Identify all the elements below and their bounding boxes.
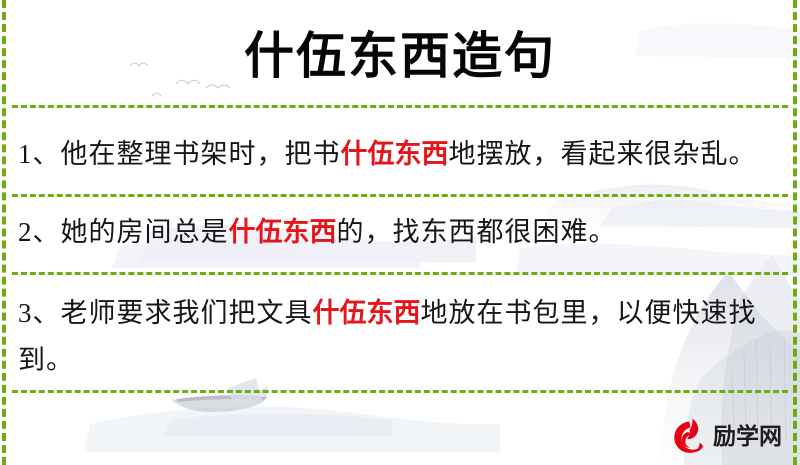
sentence-1-number: 1、 — [18, 139, 61, 169]
logo-text: 励学网 — [713, 426, 782, 449]
page-title: 什伍东西造句 — [0, 24, 800, 88]
example-sentence-1: 1、他在整理书架时，把书什伍东西地摆放，看起来很杂乱。 — [18, 131, 780, 178]
sentence-3-keyword: 什伍东西 — [313, 298, 421, 329]
sentence-2-after: 的，找东西都很困难。 — [337, 217, 617, 247]
example-sentence-3: 3、老师要求我们把文具什伍东西地放在书包里，以便快速找到。 — [18, 290, 780, 384]
example-sentence-2: 2、她的房间总是什伍东西的，找东西都很困难。 — [18, 209, 780, 256]
sentence-1-before: 他在整理书架时，把书 — [61, 139, 341, 169]
sentence-2-before: 她的房间总是 — [61, 217, 229, 247]
sentence-2-number: 2、 — [18, 217, 61, 247]
separator-title — [12, 105, 788, 108]
flame-swirl-icon — [668, 416, 710, 458]
site-logo[interactable]: 励学网 — [668, 414, 792, 460]
sentence-1-keyword: 什伍东西 — [341, 139, 449, 170]
separator-line-2 — [12, 272, 788, 275]
separator-line-3 — [12, 390, 788, 393]
separator-line-1 — [12, 194, 788, 197]
sentence-3-number: 3、 — [18, 298, 61, 328]
frame-border-right — [793, 0, 797, 465]
frame-border-left — [2, 0, 6, 465]
worksheet-page: 什伍东西造句 1、他在整理书架时，把书什伍东西地摆放，看起来很杂乱。 2、她的房… — [0, 0, 800, 465]
sentence-1-after: 地摆放，看起来很杂乱。 — [449, 139, 757, 169]
sentence-2-keyword: 什伍东西 — [229, 217, 337, 248]
sentence-3-before: 老师要求我们把文具 — [61, 298, 313, 328]
